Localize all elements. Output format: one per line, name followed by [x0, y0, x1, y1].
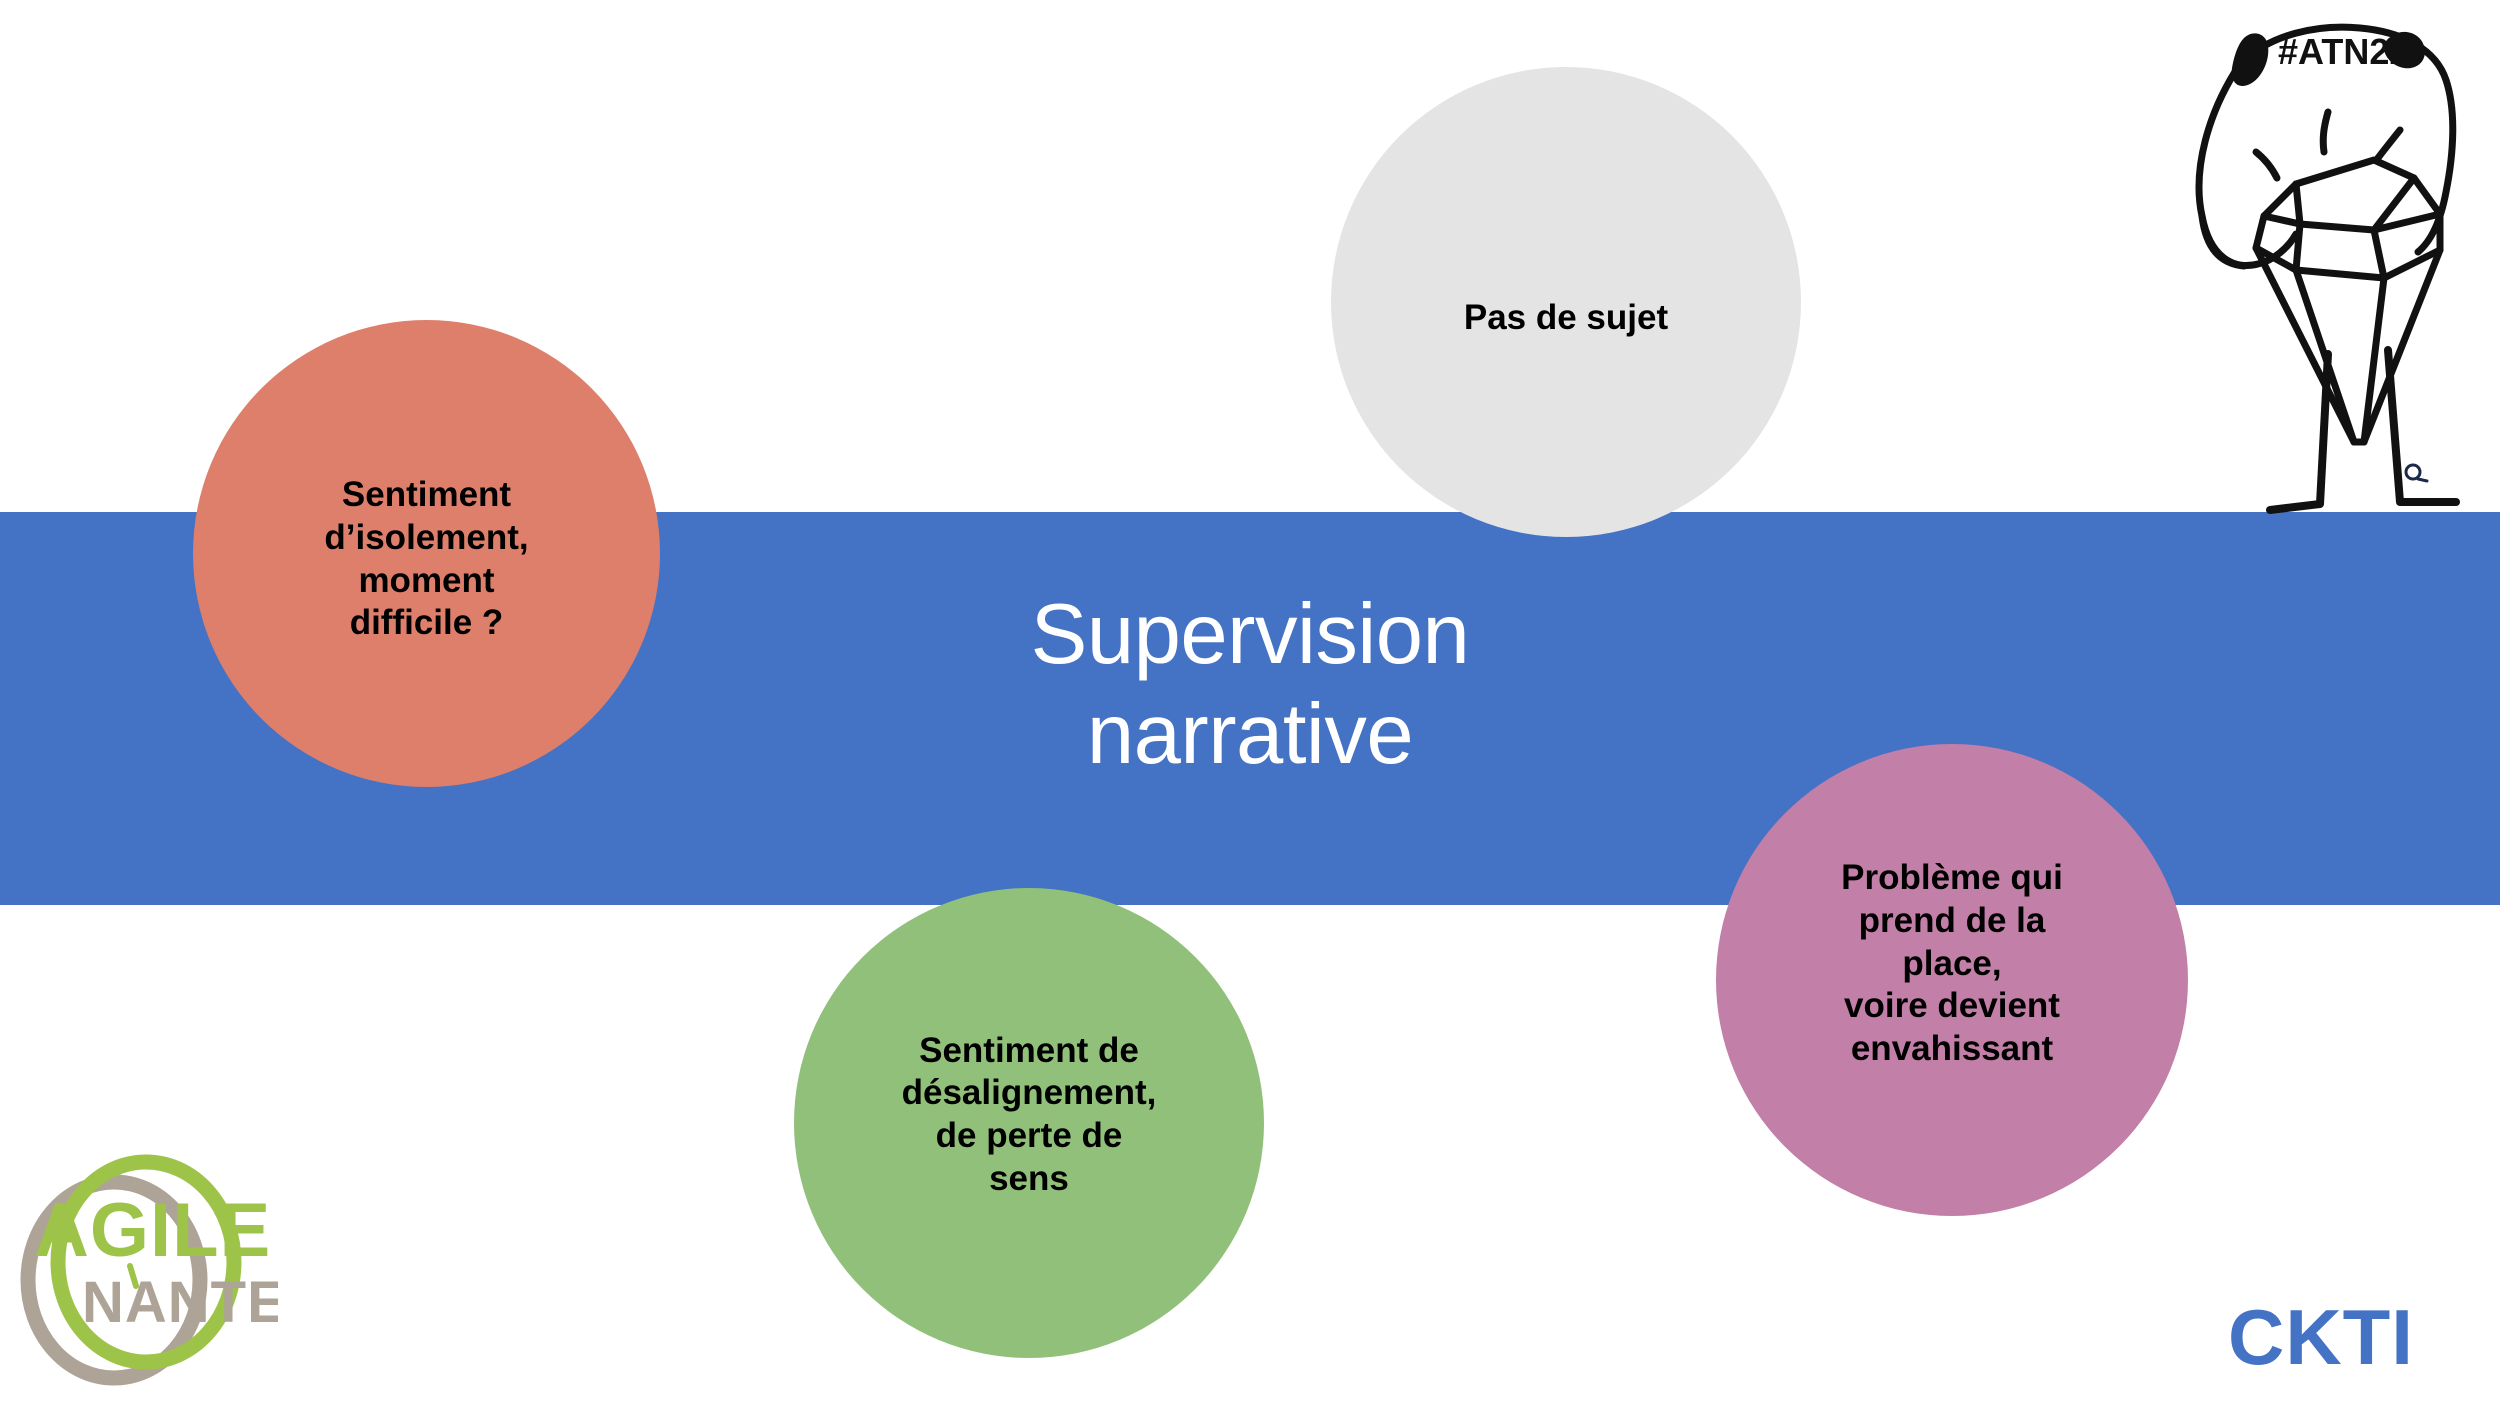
bubble-pas-de-sujet-label: Pas de sujet: [1430, 297, 1702, 340]
agile-nantes-line2: NANTES: [82, 1270, 278, 1335]
bubble-pas-de-sujet: Pas de sujet: [1331, 67, 1801, 537]
page-title: Supervision narrative: [860, 585, 1640, 786]
bubble-desalignement: Sentiment de désalignement, de perte de …: [794, 888, 1264, 1358]
agile-nantes-line1: AGILE: [34, 1188, 271, 1273]
bubble-probleme-label: Problème qui prend de la place, voire de…: [1807, 857, 2097, 1070]
bubble-isolement: Sentiment d’isolement, moment difficile …: [193, 320, 660, 787]
atn22-doodle-icon: #ATN22: [2178, 2, 2498, 562]
bubble-desalignement-label: Sentiment de désalignement, de perte de …: [868, 1030, 1191, 1201]
agile-nantes-logo: AGILE NANTES: [18, 1140, 278, 1390]
atn22-hashtag: #ATN22: [2278, 31, 2409, 72]
bubble-probleme: Problème qui prend de la place, voire de…: [1716, 744, 2188, 1216]
ckti-logo: CKTI: [2228, 1298, 2414, 1376]
slide-canvas: Supervision narrative Sentiment d’isolem…: [0, 0, 2500, 1406]
bubble-isolement-label: Sentiment d’isolement, moment difficile …: [290, 474, 562, 645]
